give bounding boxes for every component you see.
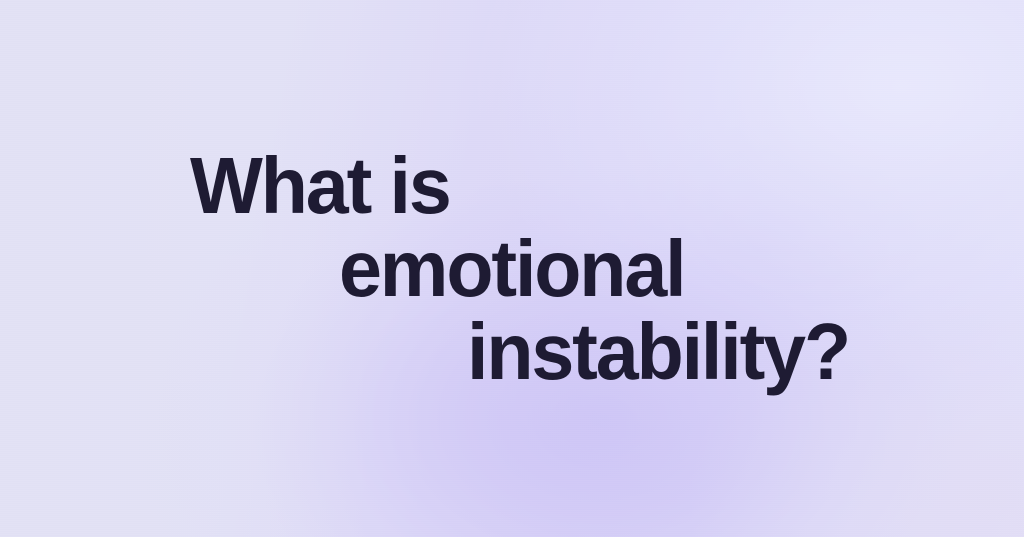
headline-line-3: instability? — [467, 312, 849, 392]
title-card: What is emotional instability? — [0, 0, 1024, 537]
headline-line-1: What is — [190, 146, 450, 226]
page-title: What is emotional instability? — [0, 0, 1024, 537]
headline-line-2: emotional — [339, 229, 684, 309]
